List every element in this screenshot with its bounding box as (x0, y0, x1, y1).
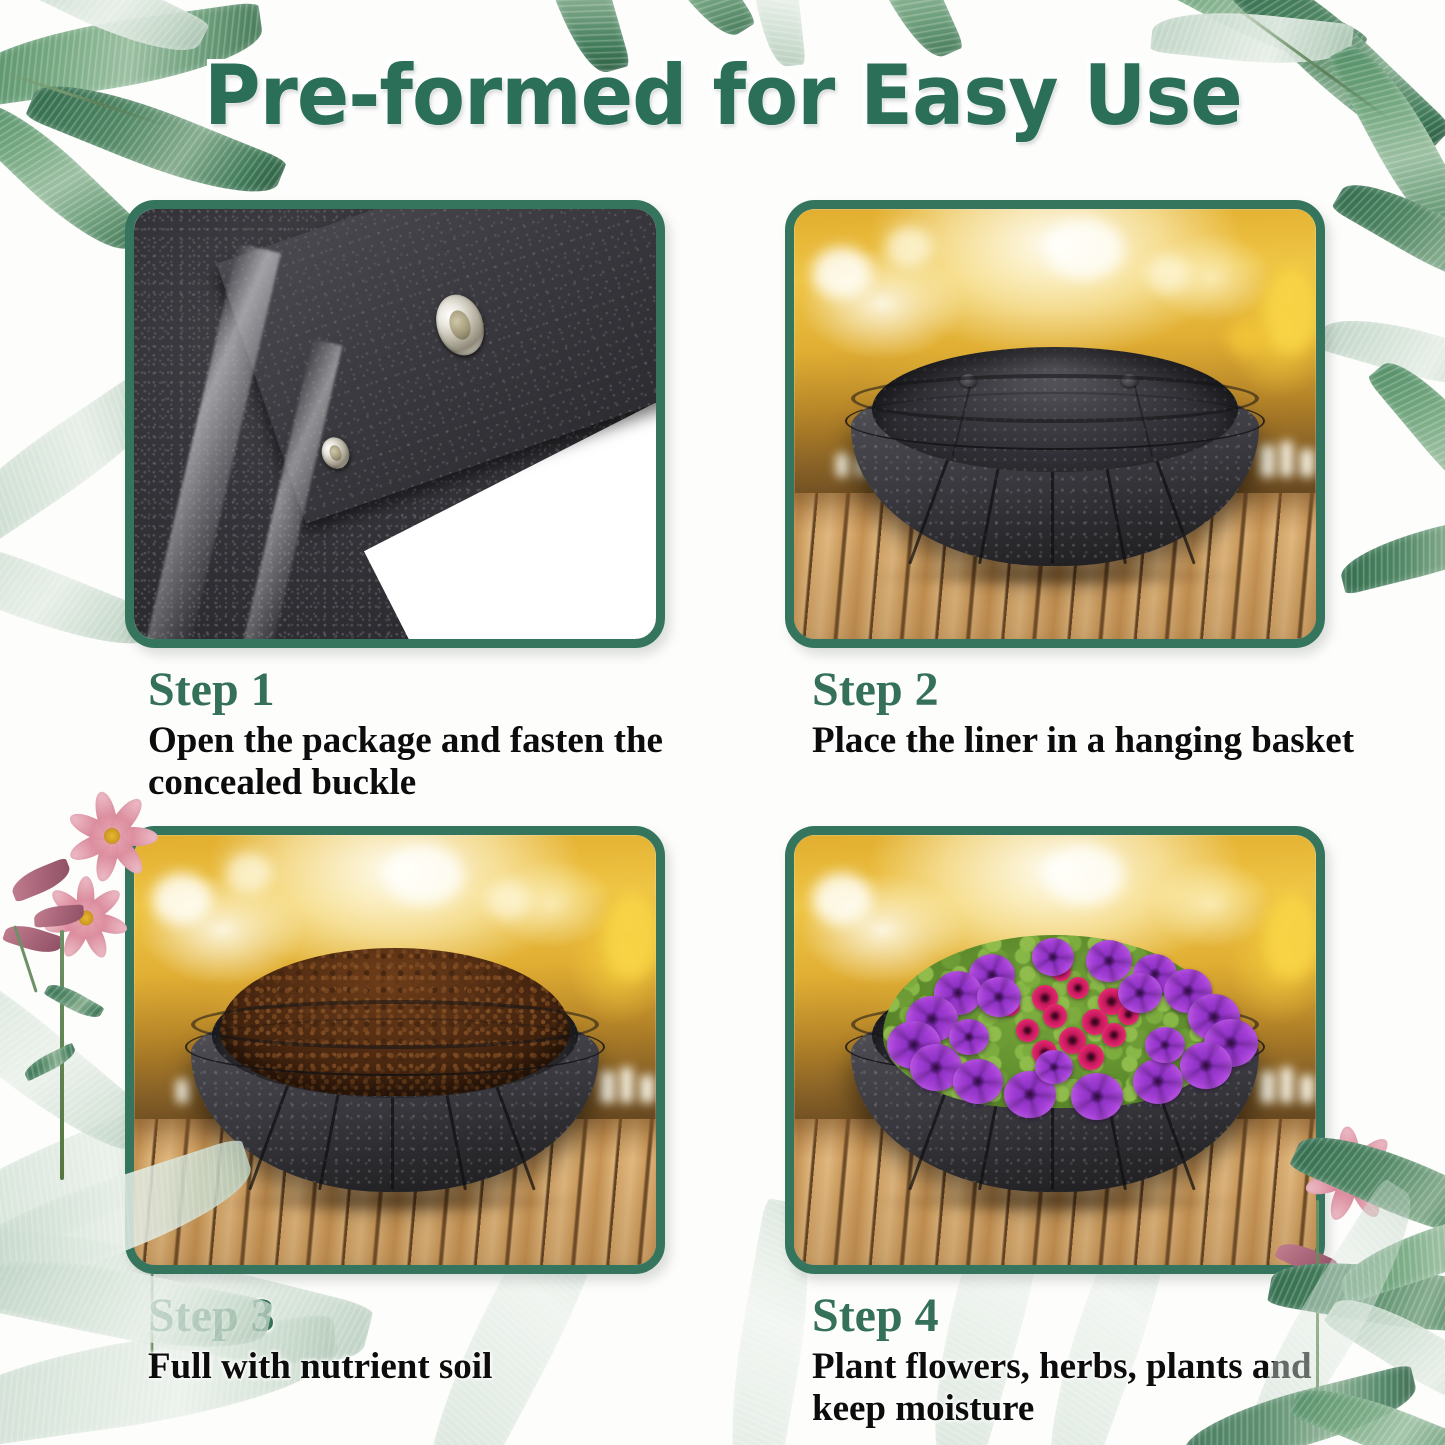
background-light (1280, 1067, 1293, 1103)
bokeh-light (1044, 219, 1124, 279)
hanging-basket (851, 342, 1258, 566)
steps-grid: Step 1 Open the package and fasten the c… (0, 0, 1445, 1445)
purple-petunia-flower (1032, 938, 1074, 976)
step-1-image-frame (125, 200, 665, 648)
purple-petunia-flower (1071, 1073, 1123, 1120)
step-3-label: Step 3 (148, 1292, 708, 1340)
magenta-flower (1016, 1019, 1039, 1042)
background-light (1260, 1071, 1275, 1103)
step-4-image-frame (785, 826, 1325, 1274)
bokeh-light (886, 227, 932, 267)
purple-petunia-flower (1133, 1059, 1183, 1104)
step-3-image-frame (125, 826, 665, 1274)
bokeh-light (1264, 893, 1316, 979)
step-1-caption: Step 1 Open the package and fasten the c… (148, 666, 708, 804)
step-3-caption: Step 3 Full with nutrient soil (148, 1292, 708, 1388)
hanging-basket (851, 968, 1258, 1192)
basket-rim-wire (185, 1018, 604, 1076)
step-2-image (794, 209, 1316, 639)
hanging-basket (191, 968, 598, 1192)
basket-rim-wire (845, 392, 1264, 450)
step-4-description: Plant flowers, herbs, plants and keep mo… (812, 1346, 1392, 1430)
page-title: Pre-formed for Easy Use (204, 52, 1242, 140)
background-light (1300, 1075, 1314, 1103)
step-1-label: Step 1 (148, 666, 708, 714)
magenta-flower (1043, 1004, 1067, 1028)
bokeh-light (486, 881, 530, 919)
background-light (640, 1075, 654, 1103)
petunia-plant-mass (860, 919, 1251, 1111)
bokeh-light (1264, 267, 1316, 353)
background-light (600, 1071, 615, 1103)
page-title-wrapper: Pre-formed for Easy Use (0, 52, 1445, 140)
step-1-image (134, 209, 656, 639)
background-light (176, 1079, 189, 1103)
step-4-caption: Step 4 Plant flowers, herbs, plants and … (812, 1292, 1392, 1430)
magenta-flower (1067, 977, 1089, 999)
step-3-description: Full with nutrient soil (148, 1346, 708, 1388)
purple-petunia-flower (1180, 1042, 1232, 1089)
background-light (1280, 441, 1293, 477)
step-2-caption: Step 2 Place the liner in a hanging bask… (812, 666, 1412, 762)
bokeh-light (152, 873, 212, 925)
step-2-description: Place the liner in a hanging basket (812, 720, 1412, 762)
step-1-description: Open the package and fasten the conceale… (148, 720, 708, 804)
step-2-image-frame (785, 200, 1325, 648)
magenta-flower (1102, 1023, 1126, 1047)
step-2-label: Step 2 (812, 666, 1412, 714)
background-light (836, 453, 849, 477)
bokeh-light (812, 247, 872, 299)
infographic-page: Pre-formed for Easy Use Step 1 Open the … (0, 0, 1445, 1445)
step-4-image (794, 835, 1316, 1265)
bokeh-light (604, 893, 656, 979)
step-4-label: Step 4 (812, 1292, 1392, 1340)
purple-petunia-flower (1145, 1027, 1185, 1063)
background-light (620, 1067, 633, 1103)
bokeh-light (384, 845, 464, 905)
bokeh-light (1146, 255, 1190, 293)
background-light (1300, 449, 1314, 477)
purple-petunia-flower (977, 977, 1021, 1017)
step-3-image (134, 835, 656, 1265)
bokeh-light (812, 873, 872, 925)
bokeh-light (1044, 845, 1124, 905)
purple-petunia-flower (1118, 973, 1162, 1013)
bokeh-light (226, 853, 272, 893)
background-light (1260, 445, 1275, 477)
